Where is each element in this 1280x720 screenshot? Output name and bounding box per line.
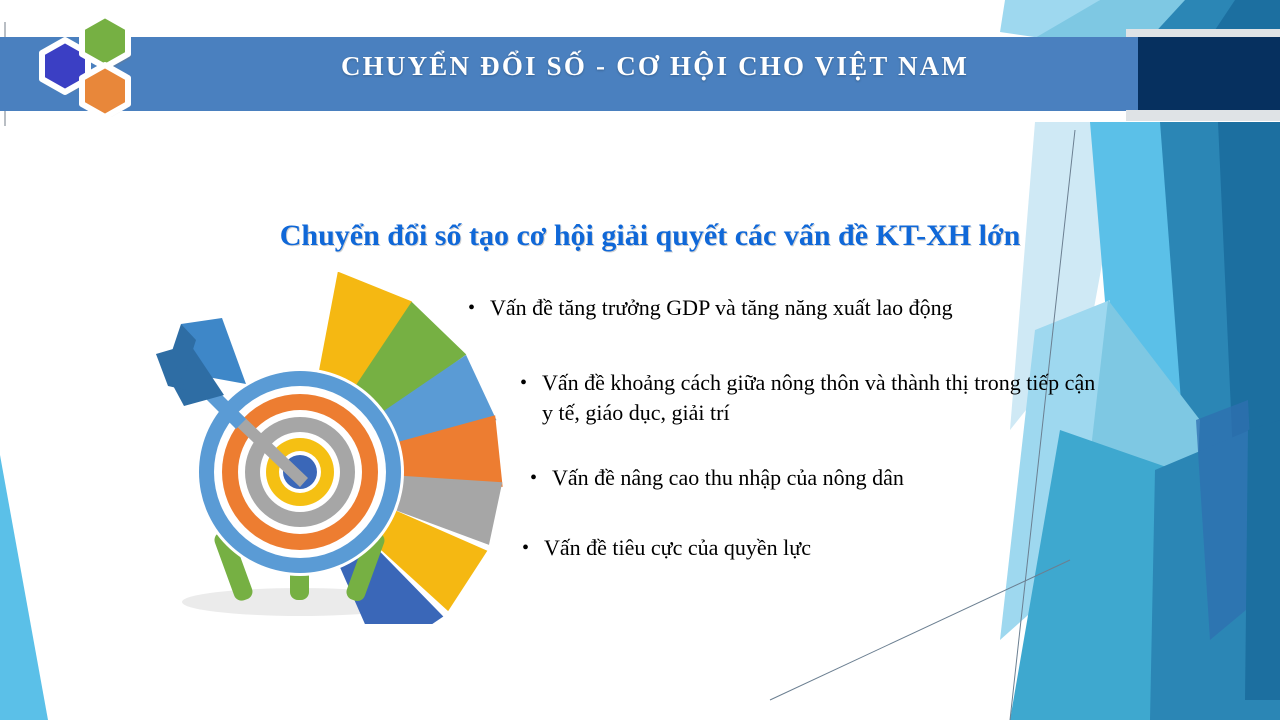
list-item-label: Vấn đề nâng cao thu nhập của nông dân — [552, 463, 1050, 493]
bg-shape-lower-rightmost — [1245, 420, 1280, 700]
hex-green — [82, 15, 128, 67]
bullet-marker-icon: • — [522, 533, 544, 563]
hairline-diagonal-long — [770, 560, 1070, 700]
list-item: • Vấn đề nâng cao thu nhập của nông dân — [530, 463, 1050, 493]
hexagon-logo — [18, 12, 178, 130]
bg-shape-top-deep — [1215, 0, 1280, 30]
bg-shape-lower-darkteal — [1150, 430, 1280, 720]
section-heading: Chuyển đổi số tạo cơ hội giải quyết các … — [150, 219, 1150, 253]
page-title: CHUYỂN ĐỔI SỐ - CƠ HỘI CHO VIỆT NAM — [190, 51, 1120, 82]
target-illustration — [150, 272, 522, 624]
bg-shape-left-triangle — [0, 455, 48, 720]
header-gray-strip-bottom — [1126, 110, 1280, 121]
bg-shape-right-lightblue — [1090, 122, 1280, 720]
hex-orange — [82, 65, 128, 117]
bg-shape-lower-softblue — [1060, 300, 1200, 720]
bg-shape-right-deepblue — [1218, 122, 1280, 500]
bg-shape-top-light — [1000, 0, 1100, 40]
list-item-label: Vấn đề khoảng cách giữa nông thôn và thà… — [542, 368, 1100, 428]
list-item-label: Vấn đề tiêu cực của quyền lực — [544, 533, 982, 563]
bullet-marker-icon: • — [468, 293, 490, 323]
header-accent-block — [1138, 37, 1280, 111]
bullet-marker-icon: • — [530, 463, 552, 493]
slide-canvas: CHUYỂN ĐỔI SỐ - CƠ HỘI CHO VIỆT NAM Chuy… — [0, 0, 1280, 720]
list-item-label: Vấn đề tăng trưởng GDP và tăng năng xuất… — [490, 293, 1068, 323]
list-item: • Vấn đề tiêu cực của quyền lực — [522, 533, 982, 563]
bullet-marker-icon: • — [520, 368, 542, 398]
list-item: • Vấn đề tăng trưởng GDP và tăng năng xu… — [468, 293, 1068, 323]
bg-shape-right-mid — [1160, 122, 1280, 720]
bg-shape-lower-indigo — [1196, 400, 1258, 640]
list-item: • Vấn đề khoảng cách giữa nông thôn và t… — [520, 368, 1100, 428]
